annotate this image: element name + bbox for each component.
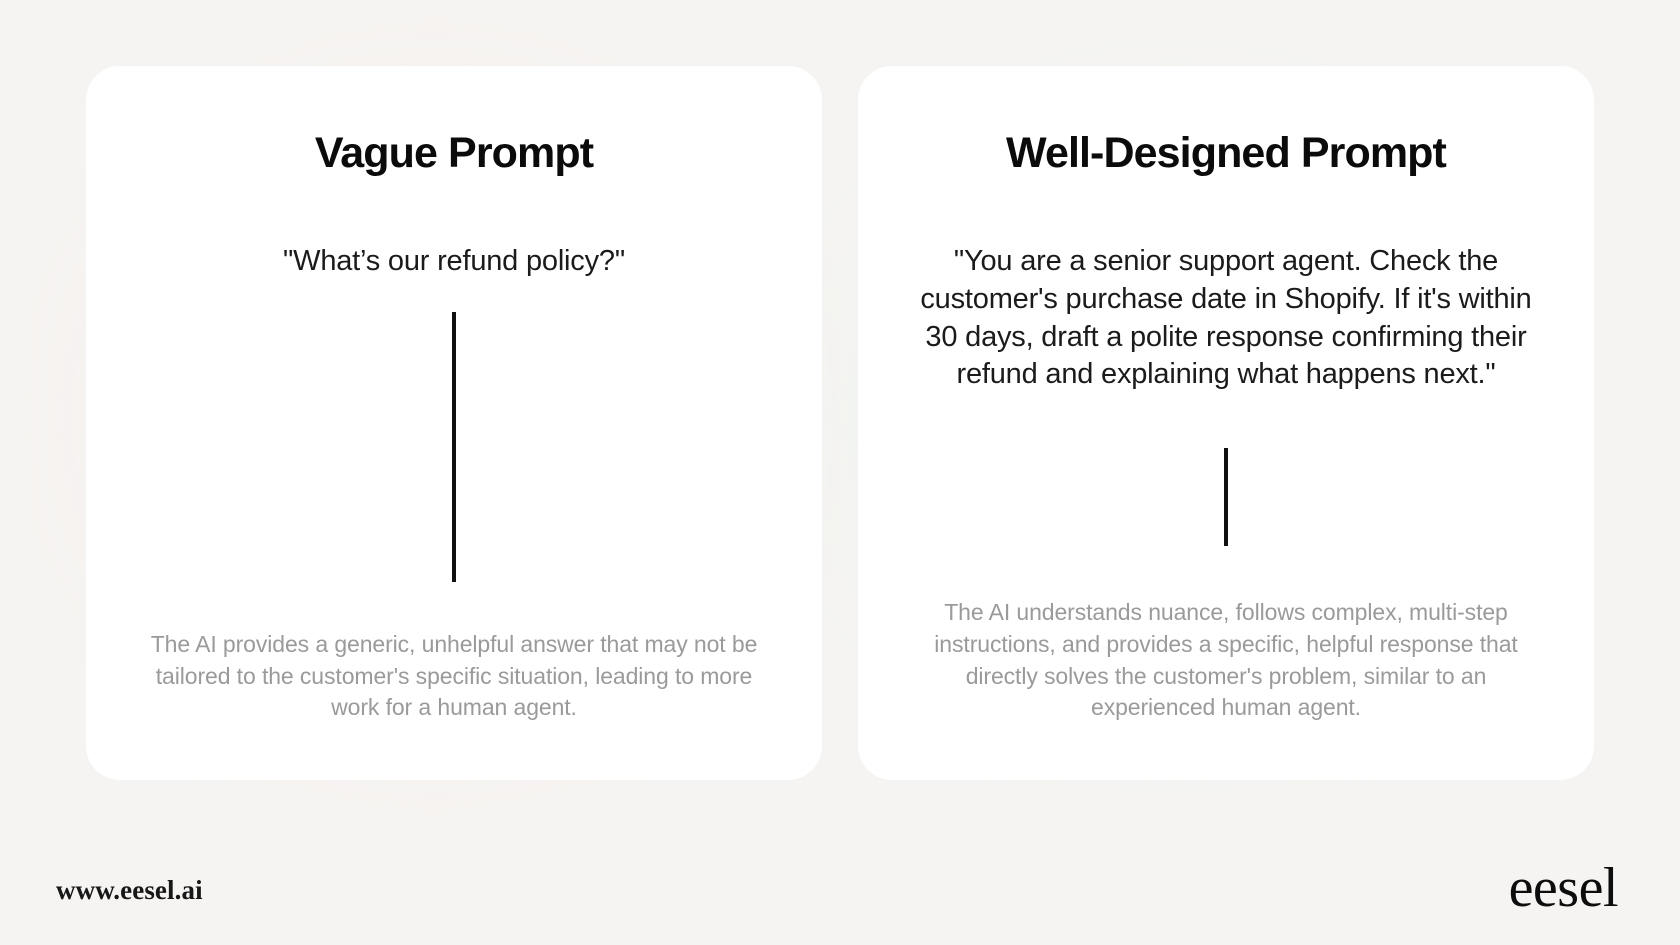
outcome-description-vague: The AI provides a generic, unhelpful ans…: [149, 629, 759, 724]
card-well-designed-prompt: Well-Designed Prompt "You are a senior s…: [858, 66, 1594, 780]
card-title-vague: Vague Prompt: [315, 130, 593, 177]
vertical-divider-vague: [452, 312, 456, 582]
divider-container-vague: [130, 281, 778, 629]
card-vague-prompt: Vague Prompt "What’s our refund policy?"…: [86, 66, 822, 780]
prompt-example-well-designed: "You are a senior support agent. Check t…: [920, 243, 1532, 394]
vertical-divider-well-designed: [1224, 448, 1228, 546]
divider-container-well-designed: [902, 394, 1550, 597]
page-background: Vague Prompt "What’s our refund policy?"…: [0, 0, 1680, 945]
eesel-logo: eesel: [1509, 860, 1618, 916]
card-title-well-designed: Well-Designed Prompt: [1006, 130, 1446, 177]
outcome-description-well-designed: The AI understands nuance, follows compl…: [906, 597, 1546, 724]
comparison-cards: Vague Prompt "What’s our refund policy?"…: [0, 0, 1680, 850]
prompt-example-vague: "What’s our refund policy?": [283, 243, 625, 281]
site-url[interactable]: www.eesel.ai: [56, 875, 203, 906]
footer: www.eesel.ai eesel: [0, 827, 1680, 945]
